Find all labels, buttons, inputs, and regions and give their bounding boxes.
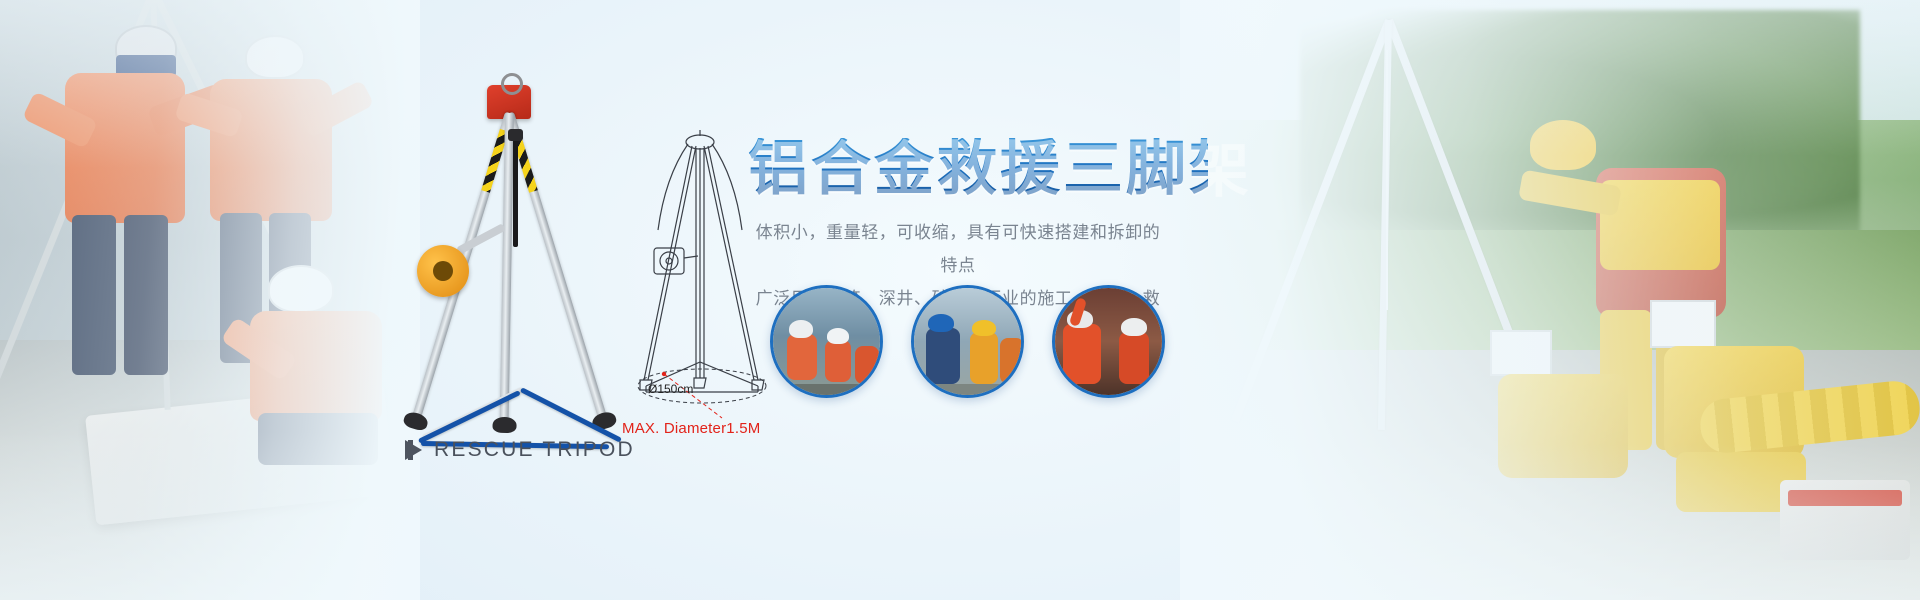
product-tripod-photo <box>395 85 625 465</box>
helmet-icon <box>789 320 813 338</box>
right-photo-collage <box>1180 0 1920 600</box>
subtitle-line-1: 体积小，重量轻，可收缩，具有可快速搭建和拆卸的特点 <box>748 217 1168 283</box>
worker-body <box>926 328 960 384</box>
circle-photo-rescue-team-at-well[interactable] <box>770 285 883 398</box>
worker-body <box>1000 338 1024 384</box>
diameter-annotation: Ø150cm <box>648 382 693 396</box>
rescue-tripod-label: RESCUE TRIPOD <box>408 438 635 462</box>
left-photo-fade <box>0 0 420 600</box>
base-strap <box>418 390 521 444</box>
product-banner: RESCUE TRIPOD <box>0 0 1920 600</box>
ground <box>773 384 883 398</box>
tripod-leg <box>500 113 514 423</box>
circle-photo-row <box>770 285 1165 398</box>
winch-mount <box>456 223 506 254</box>
play-triangle-icon <box>405 440 422 460</box>
helmet-icon <box>827 328 849 344</box>
worker-body <box>855 346 879 384</box>
helmet-icon <box>972 320 996 336</box>
tripod-strap <box>513 137 518 247</box>
worker-body <box>1119 332 1149 384</box>
worker-body <box>1063 324 1101 384</box>
winch <box>417 245 469 297</box>
circle-photo-workers-setting-tripod[interactable] <box>911 285 1024 398</box>
helmet-icon <box>928 314 954 332</box>
worker-body <box>825 340 851 382</box>
right-photo-fade <box>1180 0 1920 600</box>
max-diameter-annotation: MAX. Diameter1.5M <box>622 420 760 437</box>
worker-body <box>970 332 998 384</box>
ground <box>914 384 1024 398</box>
page-title: 铝合金救援三脚架 <box>748 138 1208 201</box>
circle-photo-confined-space-rescue[interactable] <box>1052 285 1165 398</box>
product-label-text: RESCUE TRIPOD <box>434 438 635 462</box>
tripod-leg <box>505 112 607 421</box>
helmet-icon <box>1121 318 1147 336</box>
left-photo-collage <box>0 0 420 600</box>
worker-body <box>787 334 817 380</box>
